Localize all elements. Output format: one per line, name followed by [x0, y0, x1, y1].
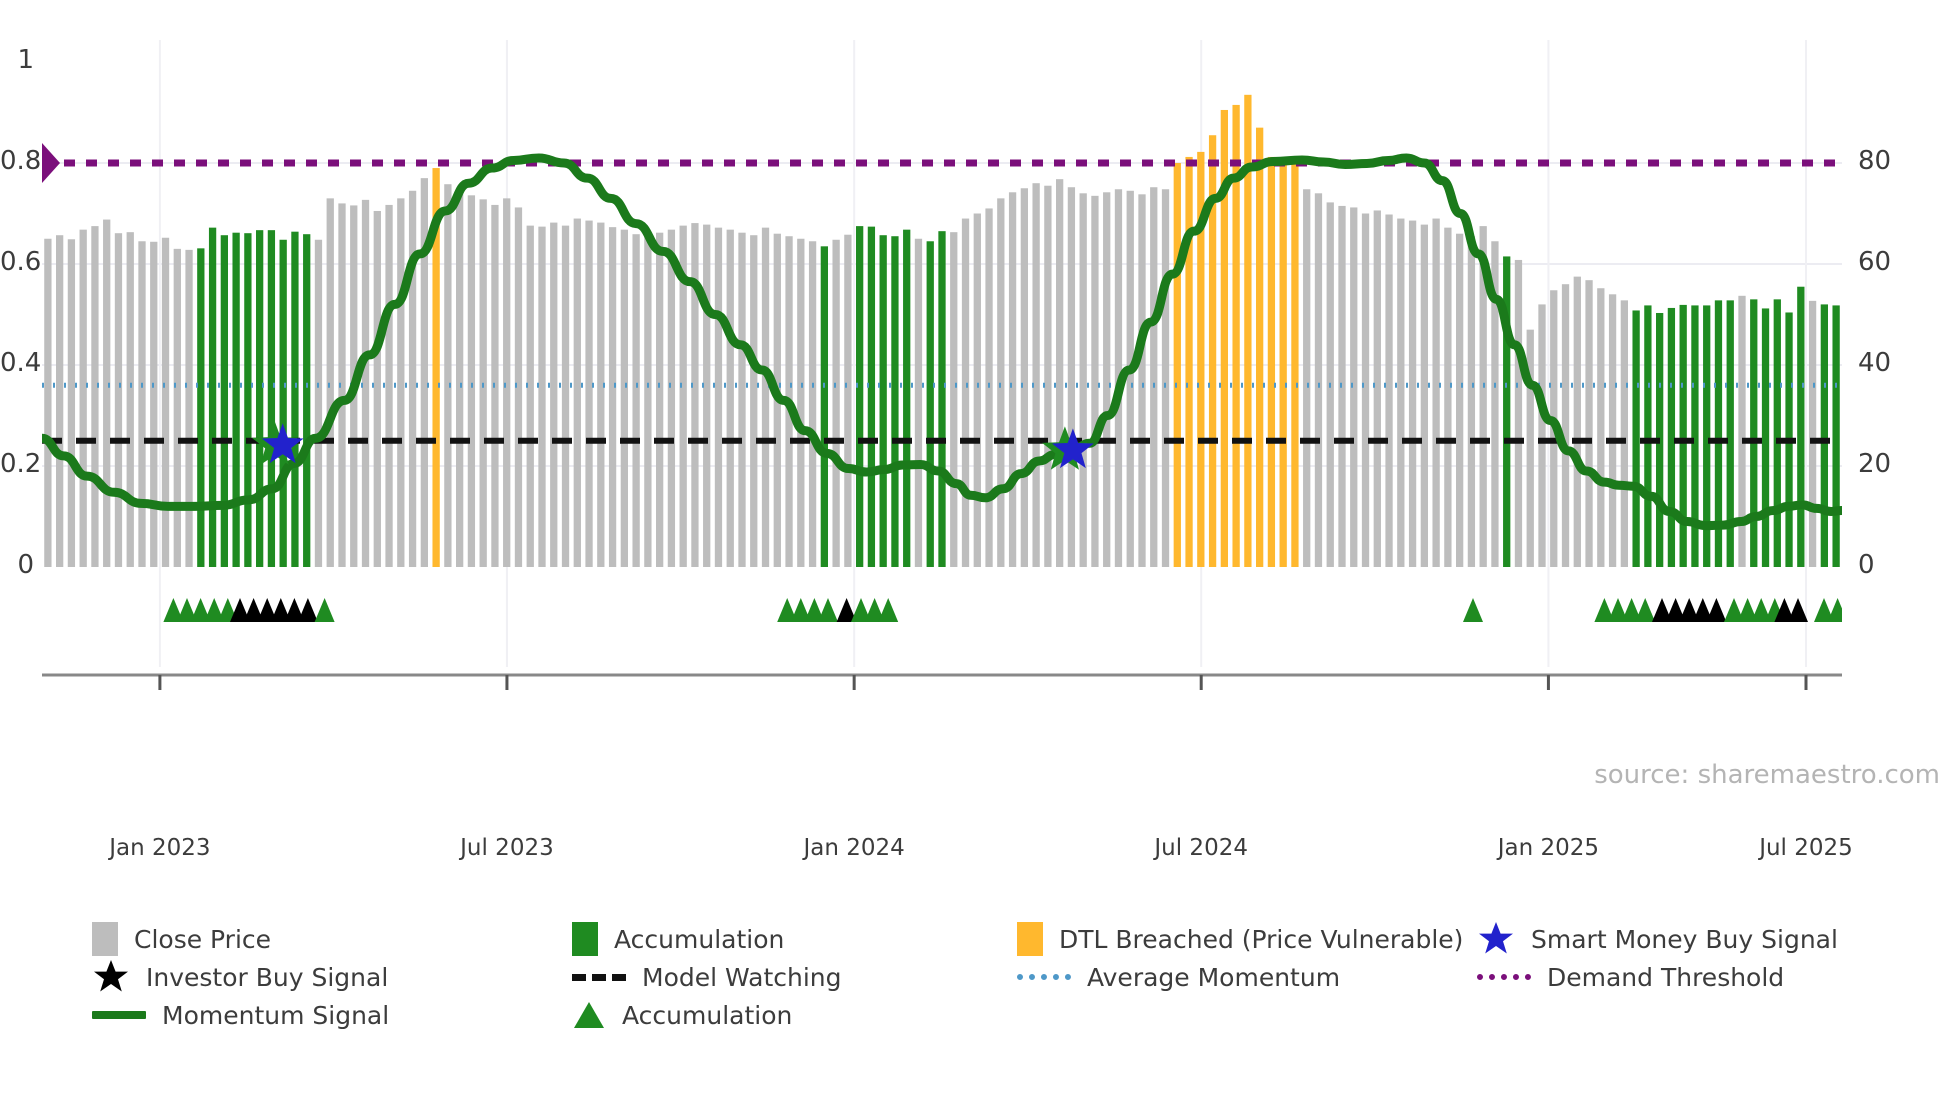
bar-close-price: [750, 235, 757, 567]
bar-close-price: [1574, 277, 1581, 567]
legend-item-label: Investor Buy Signal: [146, 963, 388, 992]
bar-close-price: [1468, 236, 1475, 567]
bar-accumulation: [821, 246, 828, 567]
plot-area: [42, 40, 1842, 715]
bar-close-price: [1621, 300, 1628, 567]
bar-dtl-breached: [1185, 157, 1192, 567]
legend-item[interactable]: Investor Buy Signal: [92, 958, 388, 996]
bar-close-price: [374, 211, 381, 567]
bar-close-price: [456, 189, 463, 567]
accumulation-triangle: [1463, 598, 1483, 622]
bar-close-price: [962, 219, 969, 567]
bar-close-price: [185, 250, 192, 567]
legend-square-icon: [572, 922, 598, 956]
bar-close-price: [1444, 228, 1451, 567]
bar-close-price: [138, 241, 145, 567]
bar-close-price: [68, 239, 75, 567]
bar-dtl-breached: [1174, 163, 1181, 567]
y-tick-left: 1: [0, 45, 34, 75]
bar-accumulation: [1821, 304, 1828, 567]
bar-close-price: [527, 226, 534, 567]
bar-accumulation: [1680, 305, 1687, 567]
bar-close-price: [1138, 194, 1145, 567]
bar-close-price: [468, 195, 475, 567]
legend-item-label: Close Price: [134, 925, 271, 954]
y-tick-left: 0.4: [0, 348, 34, 378]
bar-close-price: [1432, 219, 1439, 567]
bar-accumulation: [197, 248, 204, 567]
y-tick-right: 20: [1858, 449, 1891, 479]
bar-accumulation: [221, 235, 228, 567]
bar-accumulation: [209, 228, 216, 567]
bar-close-price: [1738, 296, 1745, 567]
bar-close-price: [1068, 187, 1075, 567]
bar-accumulation: [256, 230, 263, 567]
y-tick-right: 0: [1858, 550, 1875, 580]
bar-dtl-breached: [1268, 157, 1275, 567]
bar-close-price: [503, 198, 510, 567]
bar-close-price: [538, 227, 545, 567]
y-tick-left: 0.6: [0, 247, 34, 277]
bar-close-price: [574, 219, 581, 567]
investor-buy-triangle: [298, 598, 318, 622]
y-tick-left: 0: [0, 550, 34, 580]
bar-close-price: [1385, 215, 1392, 567]
legend-dotted-line-icon: [1477, 974, 1531, 980]
bar-accumulation: [280, 240, 287, 567]
bar-accumulation: [291, 232, 298, 567]
bar-close-price: [1362, 214, 1369, 568]
bar-accumulation: [1774, 299, 1781, 567]
bar-close-price: [585, 221, 592, 567]
legend-item-label: Accumulation: [614, 925, 784, 954]
legend-item-label: Accumulation: [622, 1001, 792, 1030]
legend-square-icon: [92, 922, 118, 956]
legend-row-3: Momentum SignalAccumulation: [92, 996, 1952, 1034]
bar-close-price: [950, 232, 957, 567]
bar-accumulation: [303, 234, 310, 567]
bar-close-price: [985, 208, 992, 567]
bar-close-price: [150, 242, 157, 567]
bar-close-price: [1127, 191, 1134, 567]
bar-close-price: [44, 239, 51, 567]
bar-close-price: [762, 228, 769, 567]
source-attribution: source: sharemaestro.com: [1594, 760, 1940, 790]
bar-close-price: [1091, 196, 1098, 567]
bar-close-price: [644, 235, 651, 567]
bar-close-price: [103, 220, 110, 567]
legend-item-label: Momentum Signal: [162, 1001, 389, 1030]
bar-close-price: [1456, 234, 1463, 567]
chart-canvas: [42, 40, 1842, 715]
bar-accumulation: [891, 236, 898, 567]
legend-item[interactable]: Model Watching: [572, 958, 842, 996]
bar-accumulation: [1750, 299, 1757, 567]
legend-item-label: DTL Breached (Price Vulnerable): [1059, 925, 1463, 954]
bar-close-price: [1080, 193, 1087, 567]
accumulation-triangle: [818, 598, 838, 622]
bar-close-price: [1409, 221, 1416, 567]
bar-close-price: [656, 233, 663, 567]
bar-close-price: [1056, 179, 1063, 567]
legend-star-icon: [1477, 920, 1515, 958]
bar-close-price: [809, 241, 816, 567]
bar-close-price: [1397, 219, 1404, 567]
bar-close-price: [1374, 210, 1381, 567]
legend-item[interactable]: Smart Money Buy Signal: [1477, 920, 1838, 958]
bar-close-price: [1162, 189, 1169, 567]
bar-close-price: [703, 225, 710, 567]
bar-close-price: [385, 205, 392, 567]
bar-accumulation: [244, 233, 251, 567]
bar-close-price: [1150, 187, 1157, 567]
bar-close-price: [915, 239, 922, 567]
bar-close-price: [1585, 280, 1592, 567]
bar-close-price: [550, 223, 557, 567]
bar-close-price: [1044, 186, 1051, 567]
bar-close-price: [115, 233, 122, 567]
legend-item[interactable]: Momentum Signal: [92, 996, 389, 1034]
accumulation-triangle: [1828, 598, 1842, 622]
bar-close-price: [1597, 288, 1604, 567]
legend-item[interactable]: DTL Breached (Price Vulnerable): [1017, 920, 1463, 958]
bar-close-price: [844, 235, 851, 567]
y-tick-left: 0.2: [0, 449, 34, 479]
bar-accumulation: [232, 233, 239, 567]
accumulation-triangle: [315, 598, 335, 622]
legend-item[interactable]: Close Price: [92, 920, 271, 958]
bar-close-price: [174, 249, 181, 567]
bar-close-price: [56, 235, 63, 567]
legend-line-icon: [92, 1011, 146, 1019]
y-tick-right: 80: [1858, 146, 1891, 176]
chart-root: 00.20.40.60.81 020406080 Jan 2023Jul 202…: [0, 0, 1960, 1102]
bar-accumulation: [938, 231, 945, 567]
x-tick-label: Jul 2025: [1706, 835, 1906, 861]
bar-accumulation: [1632, 310, 1639, 567]
x-tick-label: Jul 2024: [1101, 835, 1301, 861]
bar-close-price: [91, 226, 98, 567]
bar-close-price: [162, 238, 169, 567]
bar-accumulation: [268, 230, 275, 567]
bar-accumulation: [868, 227, 875, 567]
x-tick-label: Jan 2024: [754, 835, 954, 861]
bar-close-price: [397, 198, 404, 567]
bar-close-price: [997, 198, 1004, 567]
bar-close-price: [562, 226, 569, 567]
bar-close-price: [691, 223, 698, 567]
bar-accumulation: [927, 241, 934, 567]
bar-accumulation: [1668, 308, 1675, 567]
demand-threshold-marker: [42, 143, 60, 183]
bar-close-price: [974, 214, 981, 568]
bar-close-price: [632, 234, 639, 567]
bar-close-price: [1303, 189, 1310, 567]
bar-close-price: [1009, 192, 1016, 567]
legend-item[interactable]: Accumulation: [572, 920, 784, 958]
x-tick-label: Jan 2025: [1448, 835, 1648, 861]
chart-legend: Close PriceAccumulationDTL Breached (Pri…: [92, 920, 1952, 1034]
legend-square-icon: [1017, 922, 1043, 956]
bar-accumulation: [1797, 287, 1804, 567]
y-tick-left: 0.8: [0, 146, 34, 176]
legend-dotted-line-icon: [1017, 974, 1071, 980]
y-tick-right: 40: [1858, 348, 1891, 378]
legend-dashed-line-icon: [572, 974, 626, 981]
y-tick-right: 60: [1858, 247, 1891, 277]
bar-close-price: [727, 230, 734, 567]
bar-close-price: [1032, 183, 1039, 567]
bar-close-price: [1809, 301, 1816, 567]
x-tick-label: Jan 2023: [60, 835, 260, 861]
bar-close-price: [597, 223, 604, 567]
bar-accumulation: [880, 235, 887, 567]
legend-item-label: Smart Money Buy Signal: [1531, 925, 1838, 954]
legend-item[interactable]: Demand Threshold: [1477, 958, 1784, 996]
bar-close-price: [315, 240, 322, 567]
bar-close-price: [127, 232, 134, 567]
bar-close-price: [80, 230, 87, 567]
bar-close-price: [1562, 284, 1569, 567]
legend-row-1: Close PriceAccumulationDTL Breached (Pri…: [92, 920, 1952, 958]
bar-close-price: [1515, 260, 1522, 567]
bar-close-price: [1315, 193, 1322, 567]
legend-row-2: Investor Buy SignalModel WatchingAverage…: [92, 958, 1952, 996]
legend-item[interactable]: Average Momentum: [1017, 958, 1340, 996]
bar-accumulation: [1832, 305, 1839, 567]
legend-item-label: Demand Threshold: [1547, 963, 1784, 992]
bar-close-price: [738, 233, 745, 567]
bar-dtl-breached: [1291, 163, 1298, 567]
legend-item-label: Average Momentum: [1087, 963, 1340, 992]
bar-accumulation: [903, 230, 910, 567]
bar-close-price: [1421, 225, 1428, 567]
accumulation-triangle: [1635, 598, 1655, 622]
bar-accumulation: [856, 226, 863, 567]
bar-dtl-breached: [1280, 160, 1287, 567]
bar-close-price: [621, 230, 628, 567]
bar-close-price: [1103, 192, 1110, 567]
legend-item-label: Model Watching: [642, 963, 842, 992]
legend-item[interactable]: Accumulation: [572, 996, 792, 1034]
bar-close-price: [444, 184, 451, 567]
bar-close-price: [409, 191, 416, 567]
bar-close-price: [1538, 304, 1545, 567]
bar-accumulation: [1644, 305, 1651, 567]
bar-close-price: [832, 240, 839, 567]
x-tick-label: Jul 2023: [407, 835, 607, 861]
bar-close-price: [797, 239, 804, 567]
bar-dtl-breached: [1256, 128, 1263, 567]
bar-close-price: [1021, 188, 1028, 567]
legend-star-icon: [92, 958, 130, 996]
bar-close-price: [1609, 294, 1616, 567]
bar-close-price: [715, 228, 722, 567]
bar-close-price: [668, 230, 675, 567]
bar-accumulation: [1762, 308, 1769, 567]
bar-close-price: [609, 227, 616, 567]
investor-buy-triangle: [1706, 598, 1726, 622]
accumulation-triangle: [878, 598, 898, 622]
legend-triangle-icon: [572, 999, 606, 1031]
bar-close-price: [327, 198, 334, 567]
